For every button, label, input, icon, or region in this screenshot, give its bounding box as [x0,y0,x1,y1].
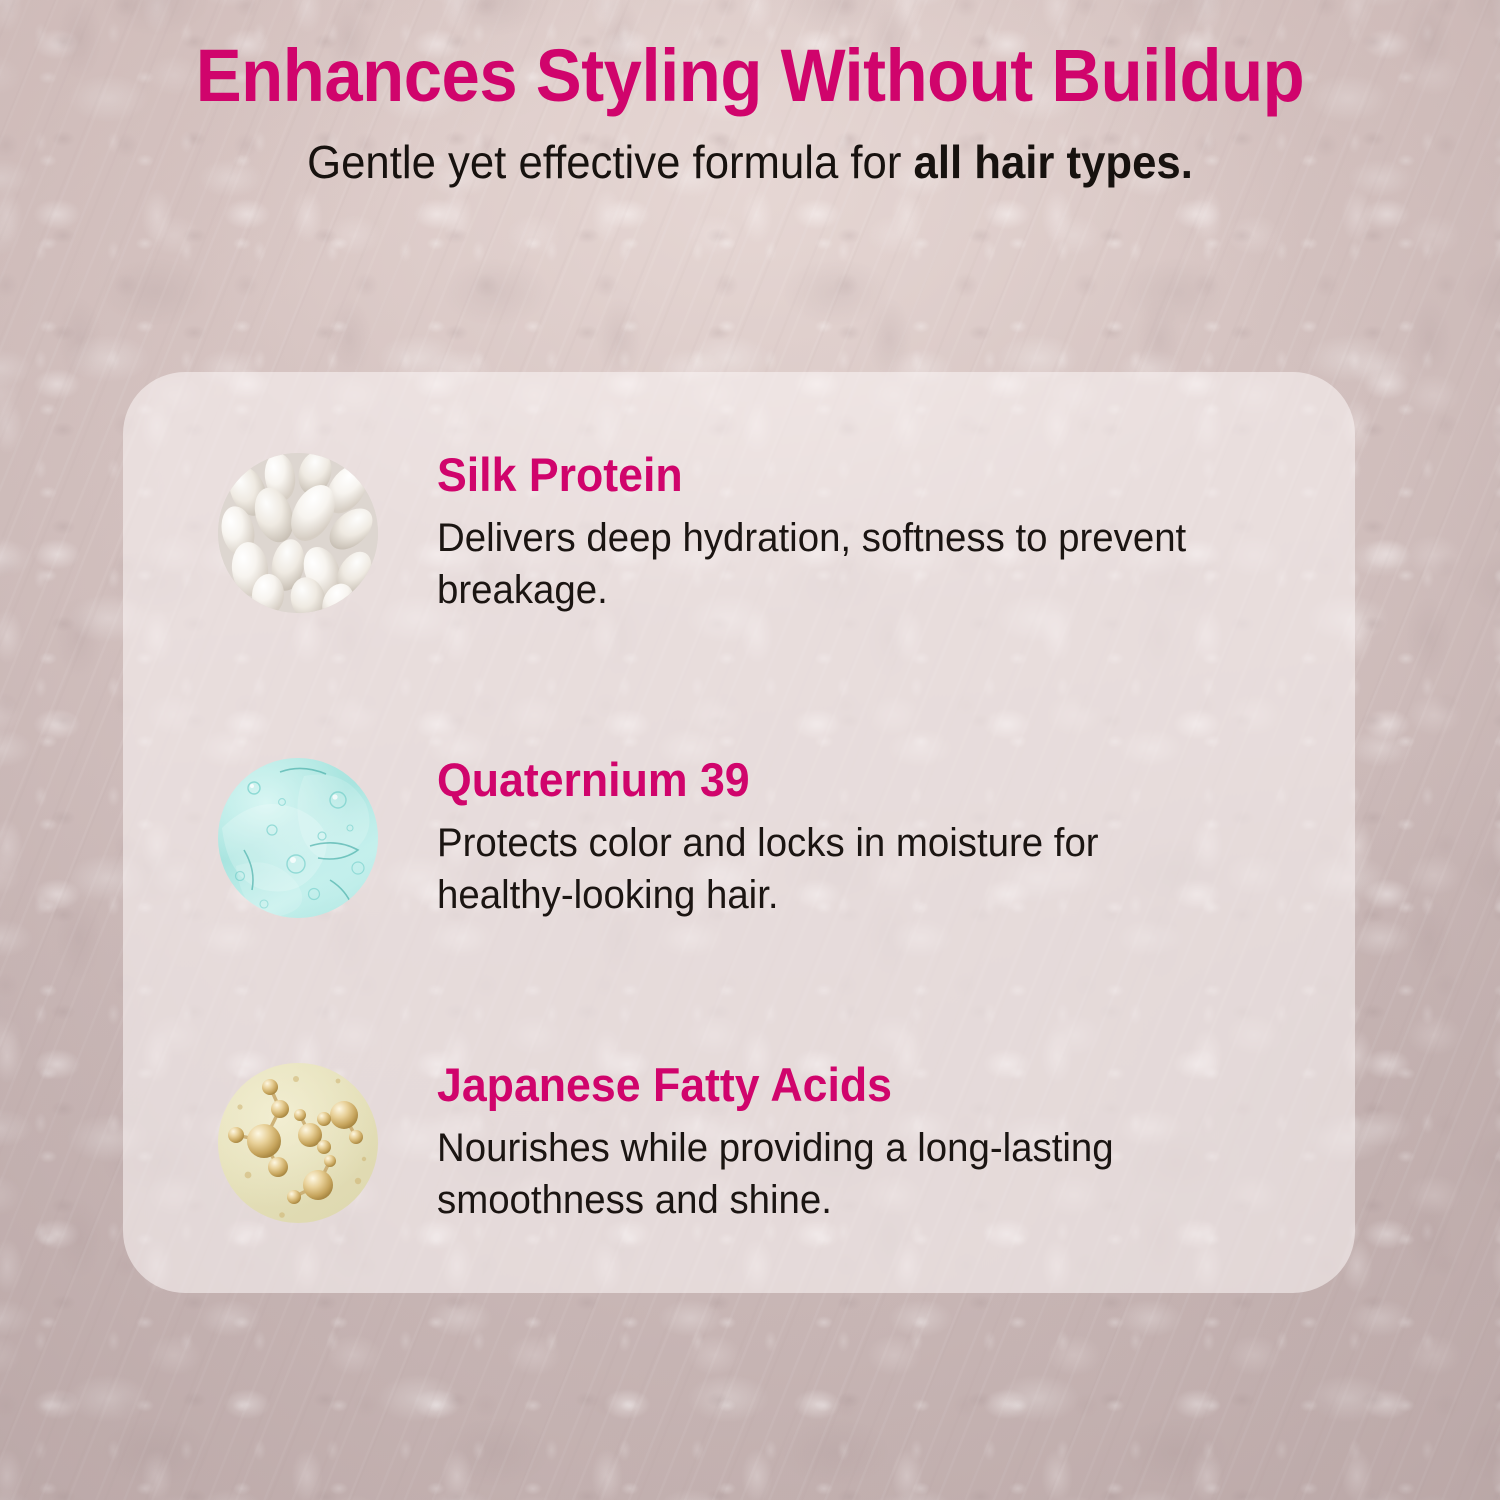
ingredient-description: Nourishes while providing a long-lasting… [437,1109,1243,1225]
ingredient-title: Quaternium 39 [437,755,1264,804]
aqua-gel-icon [218,758,378,918]
ingredients-panel: Silk Protein Delivers deep hydration, so… [123,372,1355,1293]
ingredient-title: Silk Protein [437,450,1264,499]
ingredients-list: Silk Protein Delivers deep hydration, so… [123,372,1355,1293]
list-item: Silk Protein Delivers deep hydration, so… [218,448,1308,648]
list-item: Quaternium 39 Protects color and locks i… [218,753,1308,953]
ingredient-text: Japanese Fatty Acids Nourishes while pro… [378,1058,1308,1226]
ingredient-description: Protects color and locks in moisture for… [437,804,1243,920]
silk-cocoons-icon [218,453,378,613]
infographic-canvas: Enhances Styling Without Buildup Gentle … [0,0,1500,1500]
subtitle-plain-text: Gentle yet effective formula for [307,136,913,188]
list-item: Japanese Fatty Acids Nourishes while pro… [218,1058,1308,1258]
page-title: Enhances Styling Without Buildup [53,0,1448,115]
ingredient-text: Silk Protein Delivers deep hydration, so… [378,448,1308,616]
header-block: Enhances Styling Without Buildup Gentle … [0,0,1500,188]
ingredient-text: Quaternium 39 Protects color and locks i… [378,753,1308,921]
ingredient-description: Delivers deep hydration, softness to pre… [437,499,1243,615]
golden-molecules-icon [218,1063,378,1223]
ingredient-title: Japanese Fatty Acids [437,1060,1264,1109]
page-subtitle: Gentle yet effective formula for all hai… [38,115,1463,188]
subtitle-bold-text: all hair types. [914,136,1193,188]
